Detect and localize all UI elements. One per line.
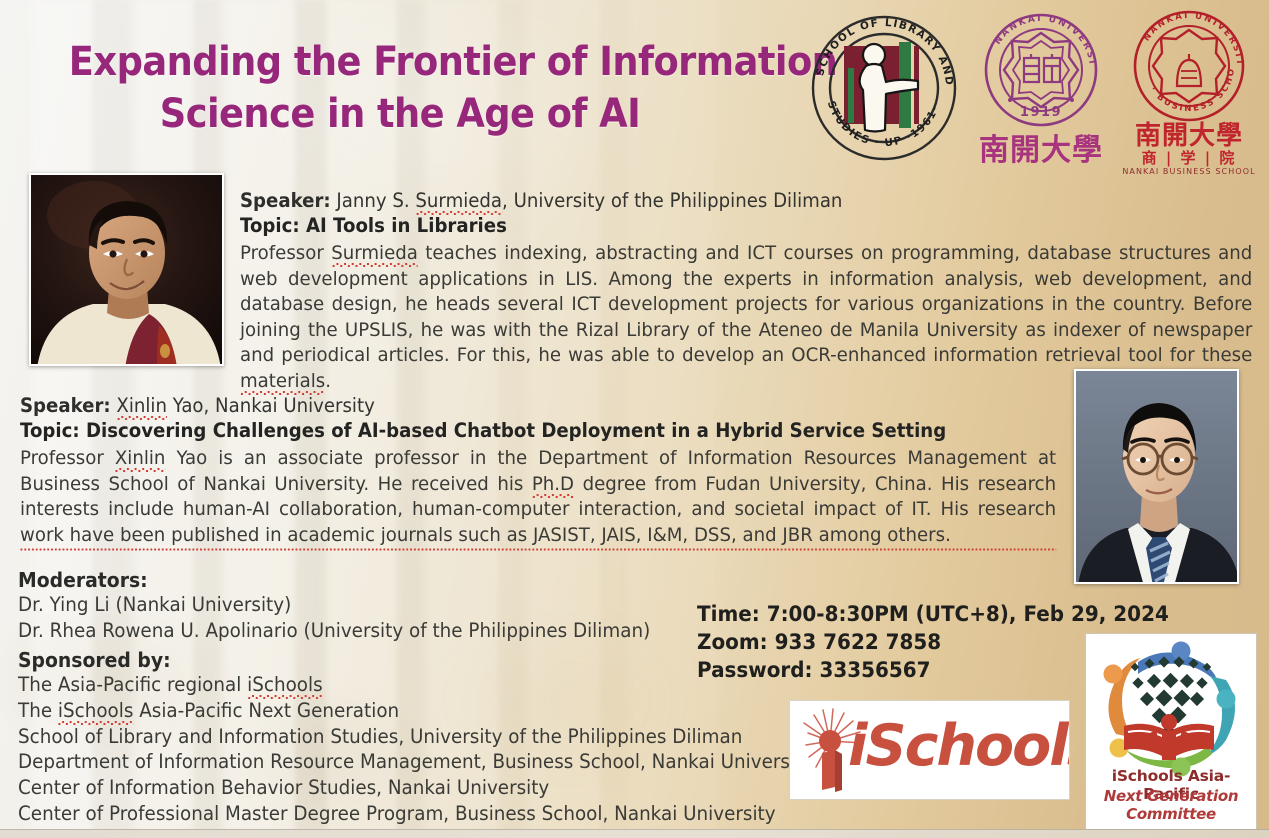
nextgen-committee-logo: iSchools Asia-Pacific Next Generation Co… — [1085, 633, 1257, 831]
topic-value: AI Tools in Libraries — [306, 214, 507, 237]
up-slis-seal: SCHOOL OF LIBRARY AND INFORMATION STUDIE… — [804, 8, 964, 166]
svg-text:1919: 1919 — [1020, 105, 1062, 120]
sponsor-item: Department of Information Resource Manag… — [18, 749, 770, 775]
moderator-item: Dr. Ying Li (Nankai University) — [18, 592, 695, 618]
sponsor-item: Center of Information Behavior Studies, … — [18, 775, 770, 801]
title-line-1: Expanding the Frontier of Information — [69, 36, 731, 88]
speaker-name-flagged: Xinlin — [116, 394, 167, 417]
avatar-speaker-yao — [1074, 369, 1239, 584]
topic-label: Topic: — [240, 214, 300, 237]
bio-flagged-word-3: JBR — [782, 524, 812, 546]
bio-flagged-word: Surmieda — [331, 242, 418, 264]
ischools-wordmark: iSchools — [848, 715, 1070, 777]
sponsor-text: The Asia-Pacific regional — [18, 673, 247, 696]
webinar-poster: Expanding the Frontier of Information Sc… — [0, 0, 1269, 838]
topic-line: Topic: AI Tools in Libraries — [240, 213, 1181, 239]
avatar-speaker-surmieda — [29, 173, 224, 366]
sponsors-heading: Sponsored by: — [18, 648, 770, 672]
bio-flagged-word-2: Ph.D — [532, 473, 574, 495]
svg-text:南開大學: 南開大學 — [1135, 121, 1243, 151]
speaker-line: Speaker: Janny S. Surmieda, University o… — [240, 188, 1181, 213]
moderator-item: Dr. Rhea Rowena U. Apolinario (Universit… — [18, 618, 695, 644]
speaker-label: Speaker: — [20, 394, 111, 417]
sponsor-item: Center of Professional Master Degree Pro… — [18, 801, 770, 827]
speaker-name: Janny S. — [336, 189, 415, 212]
speaker-affiliation: Yao, Nankai University — [167, 394, 375, 417]
sponsor-flagged-word: iSchools — [58, 699, 134, 722]
moderators-block: Moderators: Dr. Ying Li (Nankai Universi… — [18, 568, 738, 643]
speaker-label: Speaker: — [240, 189, 331, 212]
bio-part-4: among others. — [813, 524, 951, 546]
meeting-time: Time: 7:00-8:30PM (UTC+8), Feb 29, 2024 — [697, 600, 1169, 628]
bottom-edge-strip — [0, 829, 1269, 838]
speaker-name-flagged: Surmieda — [415, 189, 502, 212]
svg-text:南開大學: 南開大學 — [979, 133, 1103, 168]
logo-row: SCHOOL OF LIBRARY AND INFORMATION STUDIE… — [804, 8, 1259, 176]
sponsor-text-post: Asia-Pacific Next Generation — [133, 699, 399, 722]
bio-part-3: . — [325, 370, 331, 392]
speaker-block-yao: Speaker: Xinlin Yao, Nankai University T… — [20, 393, 1056, 548]
nankai-university-logo: NANKAI UNIVERSITY 1919 南開大學 — [974, 8, 1109, 168]
sponsor-item: The iSchools Asia-Pacific Next Generatio… — [18, 698, 770, 724]
svg-text:商 | 学 | 院: 商 | 学 | 院 — [1142, 149, 1237, 167]
topic-value: Discovering Challenges of AI-based Chatb… — [86, 419, 946, 442]
speaker-line: Speaker: Xinlin Yao, Nankai University — [20, 393, 983, 418]
bio-part-1: Professor — [20, 447, 115, 469]
topic-line: Topic: Discovering Challenges of AI-base… — [20, 418, 983, 444]
bio-flagged-word: Xinlin — [115, 447, 166, 469]
page-title: Expanding the Frontier of Information Sc… — [69, 36, 731, 140]
speaker-affiliation: , University of the Philippines Diliman — [502, 189, 842, 212]
speaker-bio: Professor Xinlin Yao is an associate pro… — [20, 446, 1056, 548]
speaker-block-surmieda: Speaker: Janny S. Surmieda, University o… — [240, 188, 1252, 394]
sponsor-item: School of Library and Information Studie… — [18, 724, 770, 750]
sponsor-text: The — [18, 699, 58, 722]
moderators-heading: Moderators: — [18, 568, 695, 592]
sponsor-flagged-word: iSchools — [247, 673, 323, 696]
title-line-2: Science in the Age of AI — [69, 88, 731, 140]
bio-part-1: Professor — [240, 242, 331, 264]
svg-text:NANKAI BUSINESS SCHOOL: NANKAI BUSINESS SCHOOL — [1122, 167, 1255, 176]
nextgen-title-line-2: Next Generation Committee — [1086, 787, 1256, 823]
sponsor-item: The Asia-Pacific regional iSchools — [18, 672, 770, 698]
bio-flagged-word-2: materials — [240, 370, 325, 392]
svg-text:NANKAI UNIVERSITY: NANKAI UNIVERSITY — [1119, 8, 1244, 67]
ischools-logo: iSchools — [789, 700, 1070, 800]
nankai-business-school-logo: NANKAI UNIVERSITY · BUSINESS SCHOOL · 南開… — [1119, 8, 1259, 176]
topic-label: Topic: — [20, 419, 80, 442]
